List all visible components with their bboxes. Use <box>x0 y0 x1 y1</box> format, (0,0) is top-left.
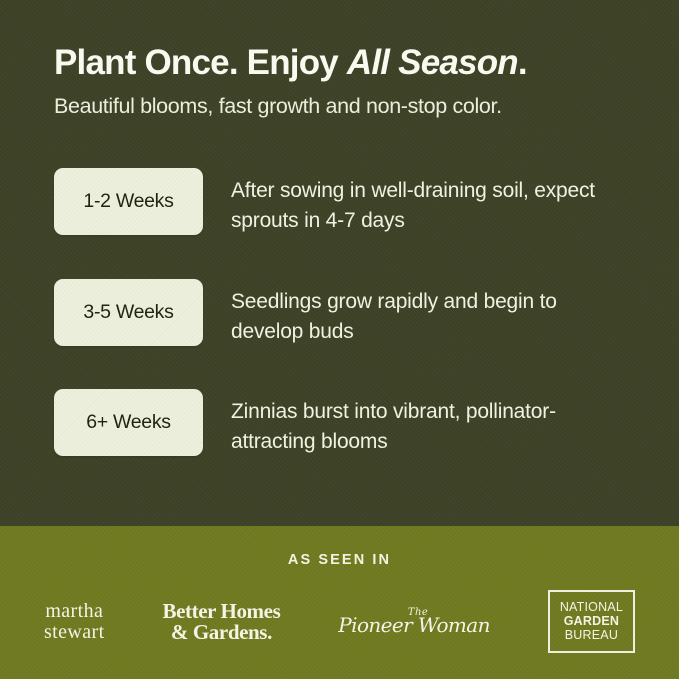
logo-the-pioneer-woman: The Pioneer Woman <box>338 608 490 635</box>
timeline-chip-6-plus-weeks: 6+ Weeks <box>54 389 203 456</box>
logo-line-1: The <box>342 608 494 618</box>
headline-italic-phrase: All Season <box>347 43 518 82</box>
logo-martha-stewart: martha stewart <box>44 601 105 642</box>
as-seen-in-label: AS SEEN IN <box>288 552 391 568</box>
logo-line-2: GARDEN <box>560 614 623 628</box>
timeline-row: 1-2 Weeks After sowing in well-draining … <box>54 168 625 236</box>
timeline-description: Seedlings grow rapidly and begin to deve… <box>231 279 625 347</box>
logo-line-2: Pioneer Woman <box>338 616 490 635</box>
as-seen-in-footer: AS SEEN IN martha stewart Better Homes &… <box>0 526 679 679</box>
press-logo-row: martha stewart Better Homes & Gardens. T… <box>0 590 679 653</box>
page-title: Plant Once. Enjoy All Season. <box>54 42 625 83</box>
logo-line-1: Better Homes <box>163 601 281 622</box>
timeline-row: 6+ Weeks Zinnias burst into vibrant, pol… <box>54 389 625 457</box>
headline-part-1: Plant Once. Enjoy <box>54 43 347 82</box>
hero-panel: Plant Once. Enjoy All Season. Beautiful … <box>0 0 679 526</box>
headline-part-2: . <box>518 43 527 82</box>
timeline-chip-1-2-weeks: 1-2 Weeks <box>54 168 203 235</box>
logo-line-1: NATIONAL <box>560 600 623 614</box>
promo-poster: Plant Once. Enjoy All Season. Beautiful … <box>0 0 679 679</box>
logo-line-2: stewart <box>44 622 105 642</box>
timeline-description: Zinnias burst into vibrant, pollinator-a… <box>231 389 625 457</box>
chip-label: 3-5 Weeks <box>83 301 173 324</box>
timeline-chip-3-5-weeks: 3-5 Weeks <box>54 279 203 346</box>
logo-line-1: martha <box>44 601 105 621</box>
logo-national-garden-bureau: NATIONAL GARDEN BUREAU <box>548 590 635 653</box>
page-subtitle: Beautiful blooms, fast growth and non-st… <box>54 93 625 120</box>
logo-line-3: BUREAU <box>560 628 623 642</box>
timeline-description: After sowing in well-draining soil, expe… <box>231 168 625 236</box>
timeline-row: 3-5 Weeks Seedlings grow rapidly and beg… <box>54 279 625 347</box>
growth-timeline: 1-2 Weeks After sowing in well-draining … <box>54 168 625 457</box>
logo-line-2: & Gardens. <box>163 622 281 643</box>
chip-label: 6+ Weeks <box>86 411 171 434</box>
logo-better-homes-and-gardens: Better Homes & Gardens. <box>163 601 281 643</box>
chip-label: 1-2 Weeks <box>83 190 173 213</box>
